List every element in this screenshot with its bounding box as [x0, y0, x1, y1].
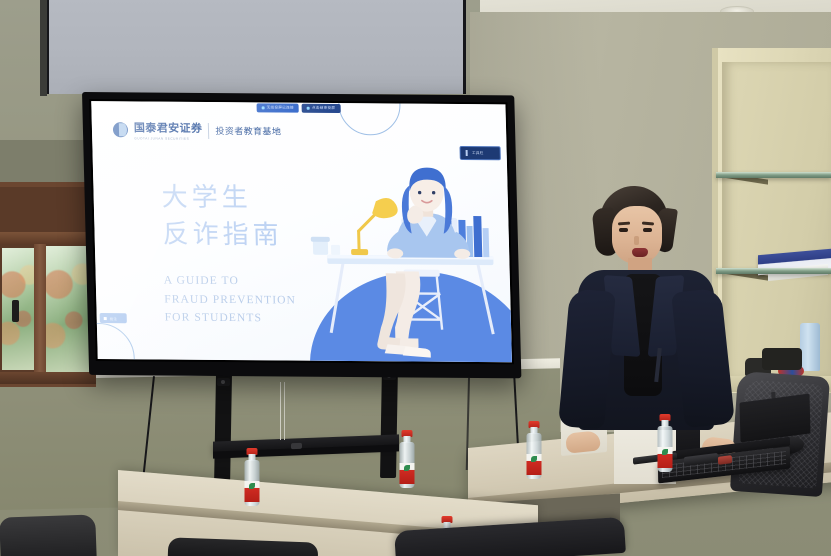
annotate-label: 批注	[110, 316, 118, 321]
tv-stand-knob	[291, 443, 302, 449]
floating-toolbar-label: 工具栏	[472, 151, 484, 156]
slide-subtitle-en: A GUIDE TO FRAUD PREVENTION FOR STUDENTS	[164, 272, 297, 329]
tv-stand-leg-left	[214, 372, 232, 490]
hanging-wire	[284, 382, 285, 440]
presenter-eye-left	[619, 228, 628, 232]
slide-title-cn: 大学生 反诈指南	[161, 180, 283, 255]
hanging-wire	[280, 382, 281, 440]
cast-connected-label: 无线投屏已连接	[267, 105, 294, 110]
water-bottle-presenter-left	[524, 421, 544, 481]
presenter-hand-left	[565, 430, 601, 453]
annotate-icon	[104, 317, 107, 320]
window-pane-left	[2, 248, 36, 370]
logo-divider	[208, 122, 209, 138]
decorative-circle-top	[338, 101, 402, 135]
slide-title-cn-line2: 反诈指南	[162, 216, 283, 254]
slide-logo: 国泰君安证券 GUOTAI JUNAN SECURITIES 投资者教育基地	[113, 119, 282, 141]
display-screen[interactable]: 国泰君安证券 GUOTAI JUNAN SECURITIES 投资者教育基地 大…	[91, 101, 512, 362]
cast-stop-icon	[307, 107, 310, 110]
cast-signal-icon	[262, 106, 265, 109]
slide-illustration	[297, 161, 512, 363]
foreground-chair-far-left	[0, 514, 97, 556]
shelf-bottle	[800, 323, 820, 371]
tv-stand-screw	[221, 380, 225, 384]
window-top-rail	[0, 232, 96, 244]
brand-name-en: GUOTAI JUNAN SECURITIES	[134, 136, 203, 141]
bottle-leaf-icon	[249, 483, 255, 489]
photo-scene: 国泰君安证券 GUOTAI JUNAN SECURITIES 投资者教育基地 大…	[0, 0, 831, 556]
slide-title-cn-line1: 大学生	[161, 180, 282, 218]
brand-division-cn: 投资者教育基地	[215, 124, 281, 138]
wall-mounted-device	[762, 348, 802, 370]
smartphone-case	[718, 455, 732, 465]
bottle-leaf-icon	[531, 456, 537, 462]
slide-subtitle-line1: A GUIDE TO	[164, 272, 296, 292]
window-header-wall	[0, 140, 96, 188]
brand-name-block: 国泰君安证券 GUOTAI JUNAN SECURITIES	[134, 119, 203, 141]
water-bottle-front-right	[397, 430, 417, 490]
projection-screen-edge	[40, 0, 47, 96]
window-pane-right	[44, 246, 92, 374]
display-bezel: 国泰君安证券 GUOTAI JUNAN SECURITIES 投资者教育基地 大…	[89, 99, 514, 364]
presenter-eye-right	[643, 228, 652, 232]
floating-toolbar[interactable]: 工具栏	[460, 146, 501, 160]
cast-stop-label: 点击结束投屏	[312, 106, 336, 111]
bottle-leaf-icon	[662, 449, 668, 455]
presenter	[556, 186, 746, 486]
water-bottle-front-left	[242, 448, 262, 508]
projection-screen	[46, 0, 466, 94]
water-bottle-presenter-right	[655, 414, 675, 474]
bottle-leaf-icon	[404, 465, 410, 471]
cast-status-bar: 无线投屏已连接 点击结束投屏	[257, 103, 341, 113]
window-handle[interactable]	[12, 300, 19, 322]
glass-shelf-upper	[716, 172, 831, 178]
wall-display[interactable]: 国泰君安证券 GUOTAI JUNAN SECURITIES 投资者教育基地 大…	[82, 92, 521, 378]
annotate-button[interactable]: 批注	[100, 313, 128, 323]
presenter-nose	[634, 236, 639, 245]
presentation-slide: 国泰君安证券 GUOTAI JUNAN SECURITIES 投资者教育基地 大…	[91, 101, 512, 362]
slide-subtitle-line3: FOR STUDENTS	[165, 309, 297, 329]
window-mullion	[34, 240, 46, 380]
presenter-mouth	[632, 248, 648, 257]
window-sill	[0, 372, 96, 384]
tv-stand-leg-right	[380, 366, 398, 478]
cast-connected-pill[interactable]: 无线投屏已连接	[257, 103, 300, 112]
brand-logo-icon	[113, 122, 128, 137]
decorative-circle-bottom	[91, 323, 135, 363]
brand-name-cn: 国泰君安证券	[134, 119, 203, 136]
toolbar-handle-icon	[466, 150, 468, 156]
slide-subtitle-line2: FRAUD PREVENTION	[164, 290, 296, 310]
cast-stop-pill[interactable]: 点击结束投屏	[302, 104, 341, 113]
